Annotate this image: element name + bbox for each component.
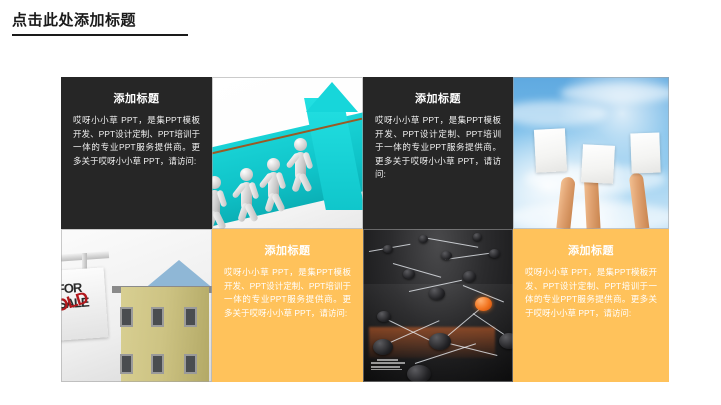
figure-2-body (241, 182, 252, 209)
figure-2-head (240, 168, 253, 181)
house-window-6 (120, 354, 133, 374)
logo-bar-3 (371, 366, 400, 368)
panel-r1c3-body: 哎呀小小草 PPT，是集PPT模板开发、PPT设计定制、PPT培训于一体的专业P… (375, 114, 501, 182)
network-node-7 (403, 269, 415, 279)
network-edge-8 (445, 252, 493, 260)
panel-r2c4-body: 哎呀小小草 PPT，是集PPT模板开发、PPT设计定制、PPT培训于一体的专业P… (525, 266, 657, 320)
image-hands-signs[interactable] (513, 77, 669, 229)
panel-r1c3[interactable]: 添加标题 哎呀小小草 PPT，是集PPT模板开发、PPT设计定制、PPT培训于一… (363, 77, 513, 229)
panel-r2c4[interactable]: 添加标题 哎呀小小草 PPT，是集PPT模板开发、PPT设计定制、PPT培训于一… (513, 229, 669, 382)
figure-1 (212, 176, 221, 217)
logo-bar-1 (377, 359, 397, 361)
network-node-10 (383, 245, 393, 253)
network-node-6 (463, 271, 476, 282)
figure-4-head (294, 138, 307, 151)
figure-1-body (212, 190, 220, 217)
sign-left (534, 128, 567, 173)
arrow-head-shape (306, 82, 358, 112)
network-node-13 (499, 333, 513, 349)
network-node-2 (429, 333, 451, 350)
house-window-3 (120, 307, 133, 327)
network-node-highlighted (475, 297, 492, 311)
panel-r2c2-body: 哎呀小小草 PPT，是集PPT模板开发、PPT设计定制、PPT培训于一体的专业P… (224, 266, 351, 320)
title-underline-rule (12, 34, 188, 36)
panel-r1c1-heading: 添加标题 (114, 91, 160, 107)
image-network-nodes[interactable] (363, 229, 513, 382)
image-house-sold[interactable]: FOR SALE SOLD (61, 229, 212, 382)
network-node-8 (441, 251, 452, 260)
sign-right (630, 133, 660, 174)
page-title-text: 点击此处添加标题 (12, 11, 212, 31)
panel-r2c2[interactable]: 添加标题 哎呀小小草 PPT，是集PPT模板开发、PPT设计定制、PPT培训于一… (212, 229, 363, 382)
network-node-5 (377, 311, 391, 322)
panel-r1c1[interactable]: 添加标题 哎呀小小草 PPT，是集PPT模板开发、PPT设计定制、PPT培训于一… (61, 77, 212, 229)
figure-3-body (268, 172, 279, 199)
watermark-logo-icon (371, 359, 405, 373)
figure-3 (267, 158, 280, 199)
house-window-1 (184, 307, 197, 327)
page-title: 点击此处添加标题 (12, 11, 212, 36)
network-edge-7 (393, 263, 441, 278)
cloud-wisp-2 (560, 83, 669, 103)
panel-r1c3-heading: 添加标题 (415, 91, 461, 107)
cloud-wisp-1 (513, 101, 607, 125)
network-node-12 (473, 233, 482, 241)
figure-1-arm-left (212, 190, 215, 207)
house-sold-sign-icon: FOR SALE SOLD (61, 229, 212, 382)
house-window-2 (151, 307, 164, 327)
logo-bar-4 (371, 369, 403, 370)
network-node-14 (407, 365, 431, 382)
logo-bar-2 (371, 362, 405, 364)
sign-center (581, 144, 615, 184)
figure-3-head (267, 158, 280, 171)
panel-r1c1-body: 哎呀小小草 PPT，是集PPT模板开发、PPT设计定制、PPT培训于一体的专业P… (73, 114, 200, 168)
panel-r2c2-heading: 添加标题 (265, 243, 311, 259)
network-node-4 (429, 287, 445, 300)
hands-holding-signs-icon (513, 77, 669, 229)
figure-4 (294, 138, 307, 179)
house-window-5 (151, 354, 164, 374)
house-window-4 (184, 354, 197, 374)
network-edge-10 (423, 237, 478, 248)
panel-r2c4-heading: 添加标题 (568, 243, 614, 259)
network-node-11 (419, 235, 428, 243)
content-grid: 添加标题 哎呀小小草 PPT，是集PPT模板开发、PPT设计定制、PPT培训于一… (61, 77, 669, 382)
image-teamwork-arrow[interactable] (212, 77, 363, 229)
sold-sign-board: FOR SALE SOLD (61, 267, 109, 341)
figure-2 (240, 168, 253, 209)
teamwork-arrow-icon (212, 77, 363, 229)
figure-4-body (295, 152, 306, 179)
network-node-1 (373, 339, 393, 355)
figure-1-head (212, 176, 221, 189)
network-nodes-icon (363, 229, 513, 382)
network-node-9 (489, 249, 500, 258)
